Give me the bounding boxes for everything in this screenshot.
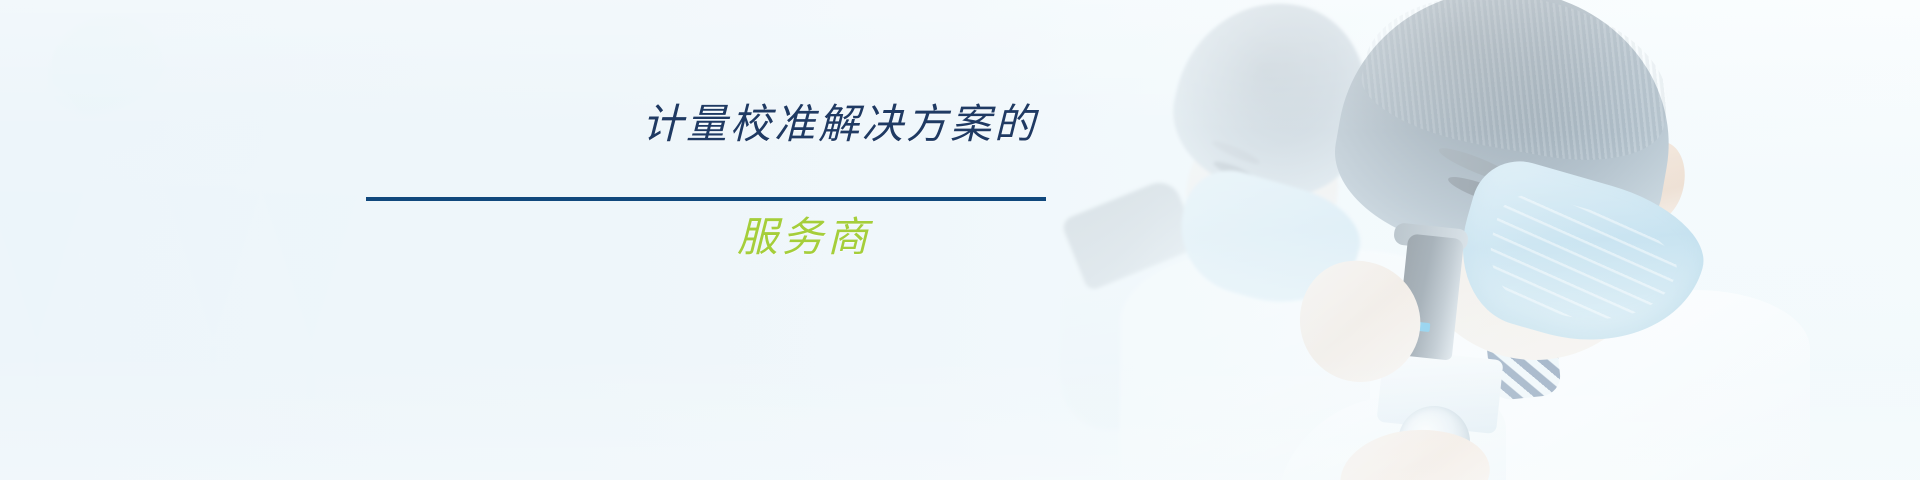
- banner-text-block: 计量校准解决方案的 服务商: [360, 96, 1060, 276]
- scientists-photo: [1040, 0, 1920, 480]
- separatory-funnel-1: [0, 46, 112, 466]
- headline-primary: 计量校准解决方案的: [360, 96, 1060, 152]
- hero-banner: 计量校准解决方案的 服务商: [0, 0, 1920, 480]
- lab-glassware-photo: [0, 0, 420, 480]
- headline-secondary: 服务商: [360, 208, 1060, 266]
- headline-divider: [366, 197, 1046, 201]
